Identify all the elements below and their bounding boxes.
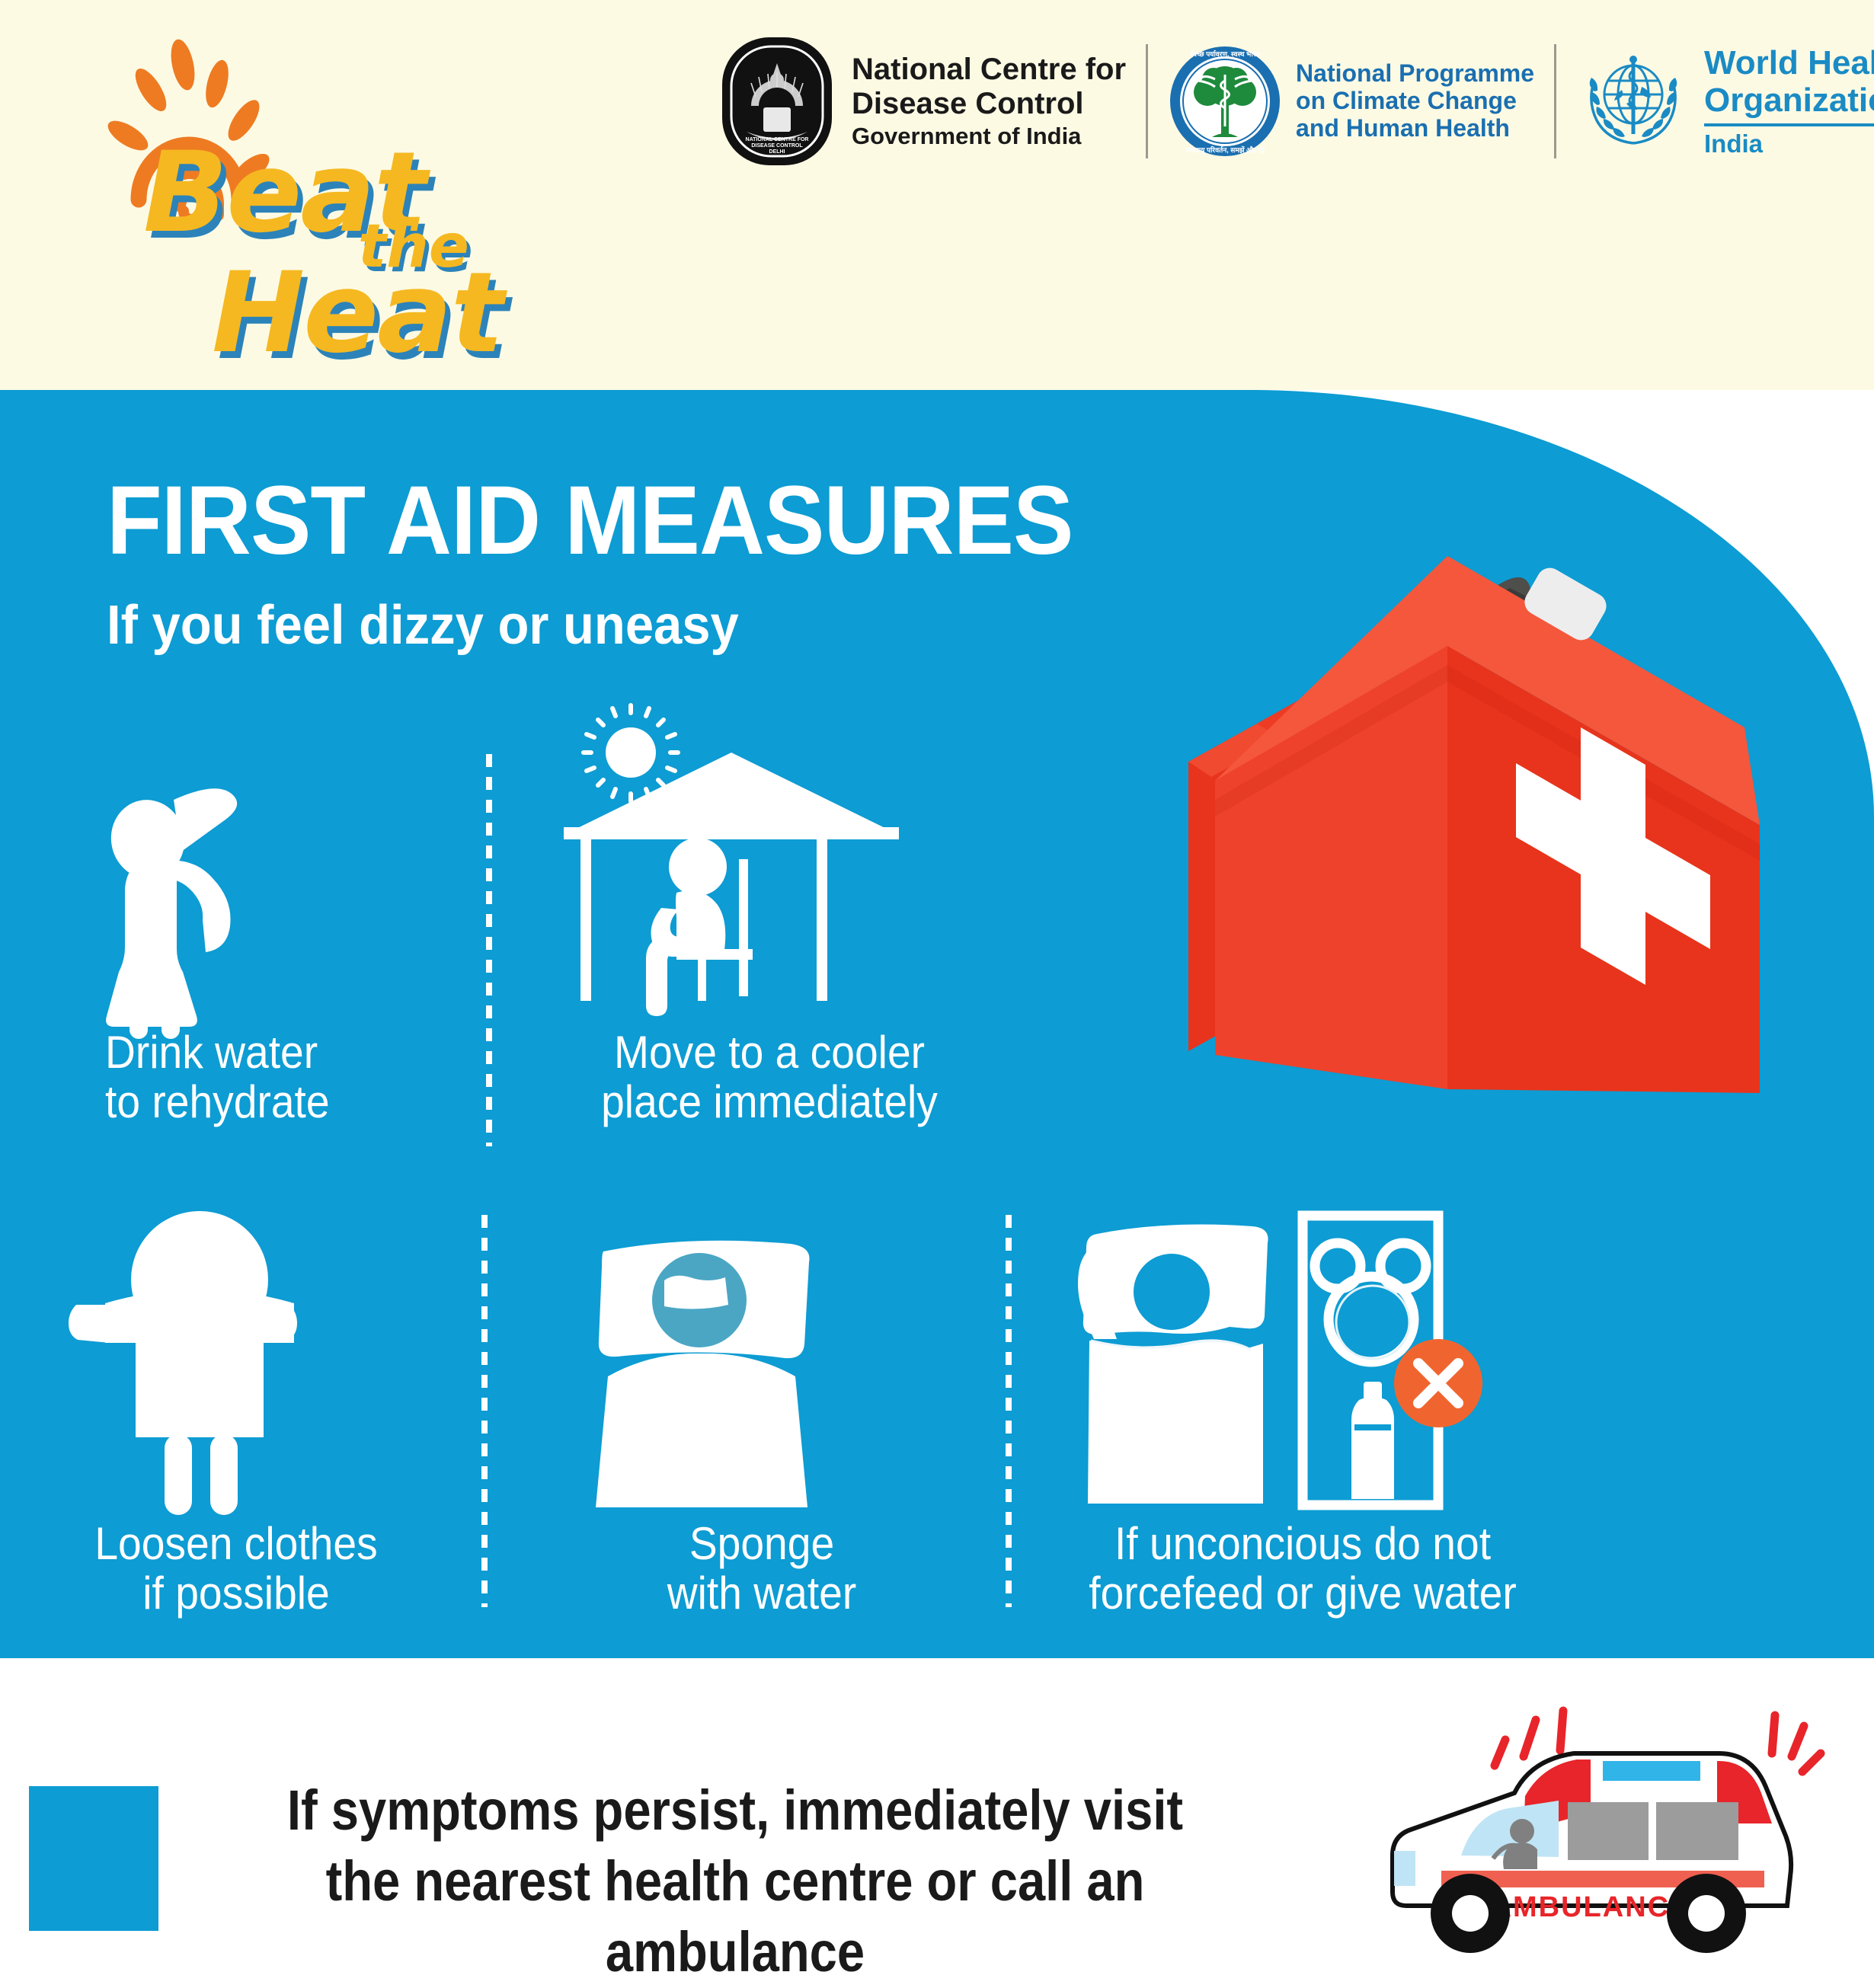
first-aid-kit-icon <box>1143 404 1798 1104</box>
logo-divider-2 <box>1554 44 1556 158</box>
caption-line: Sponge <box>580 1520 944 1569</box>
caption-line: If unconcious do not <box>1079 1520 1527 1569</box>
footer-line-1: If symptoms persist, immediately visit <box>256 1775 1214 1846</box>
person-drinking-water-icon <box>91 777 434 1028</box>
npcchh-line-2: on Climate Change <box>1296 88 1534 115</box>
organization-logos: NATIONAL CENTRE FOR DISEASE CONTROL DELH… <box>716 29 1874 174</box>
ncdc-line-2: Disease Control <box>852 87 1126 121</box>
unconscious-no-food-water-icon <box>1059 1203 1546 1520</box>
who-rule <box>1704 123 1874 126</box>
who-line-1: World Health <box>1704 44 1874 82</box>
ambulance-icon: AMBULANCE <box>1348 1706 1866 1942</box>
footer-line-2: the nearest health centre or call an amb… <box>256 1846 1214 1987</box>
ambulance-label: AMBULANCE <box>1491 1891 1691 1923</box>
infographic-poster: Beat the Heat <box>0 0 1874 1950</box>
npcchh-emblem-icon: स्वच्छ पर्यावरण, स्वस्थ भारत जलवायु परिव… <box>1168 44 1282 158</box>
org-logo-npcchh: स्वच्छ पर्यावरण, स्वस्थ भारत जलवायु परिव… <box>1168 33 1534 170</box>
who-country: India <box>1704 129 1874 158</box>
measure-drink-water: Drink water to rehydrate <box>91 777 434 1127</box>
logo-divider-1 <box>1146 44 1148 158</box>
caption-line: Move to a cooler <box>552 1028 987 1078</box>
caption-drink-water: Drink water to rehydrate <box>105 1028 421 1127</box>
svg-text:जलवायु परिवर्तन, समझें और रहें: जलवायु परिवर्तन, समझें और रहें <box>1185 145 1265 155</box>
ncdc-emblem-icon: NATIONAL CENTRE FOR DISEASE CONTROL DELH… <box>716 33 838 170</box>
page-title: FIRST AID MEASURES <box>107 465 1073 577</box>
org-logo-who: World Health Organization India <box>1576 33 1874 170</box>
footer-accent-square <box>29 1786 158 1931</box>
divider-row1 <box>486 750 492 1146</box>
caption-move-cooler: Move to a cooler place immediately <box>552 1028 987 1127</box>
person-loose-clothes-icon <box>46 1215 427 1520</box>
caption-line: place immediately <box>552 1078 987 1127</box>
campaign-logo: Beat the Heat <box>61 23 488 343</box>
who-emblem-icon <box>1576 44 1690 158</box>
person-in-bed-cloth-icon <box>564 1215 960 1520</box>
caption-no-forcefeed: If unconcious do not forcefeed or give w… <box>1079 1520 1527 1619</box>
svg-text:DELHI: DELHI <box>769 149 785 155</box>
svg-text:NATIONAL CENTRE FOR: NATIONAL CENTRE FOR <box>746 137 809 142</box>
header-band: Beat the Heat <box>0 0 1874 390</box>
measure-sponge-water: Sponge with water <box>564 1215 960 1619</box>
caption-line: Drink water <box>105 1028 421 1078</box>
npcchh-line-3: and Human Health <box>1296 115 1534 142</box>
caption-line: with water <box>580 1569 944 1619</box>
footer-message: If symptoms persist, immediately visit t… <box>256 1775 1214 1988</box>
svg-text:DISEASE CONTROL: DISEASE CONTROL <box>751 143 803 149</box>
caption-sponge-water: Sponge with water <box>580 1520 944 1619</box>
person-under-shelter-icon <box>533 708 1006 1028</box>
npcchh-line-1: National Programme <box>1296 60 1534 88</box>
divider-row2-b <box>1006 1211 1012 1607</box>
caption-line: Loosen clothes <box>61 1520 411 1569</box>
logo-word-heat: Heat <box>212 257 503 369</box>
ncdc-line-1: National Centre for <box>852 53 1126 87</box>
measure-loosen-clothes: Loosen clothes if possible <box>46 1215 427 1619</box>
caption-line: if possible <box>61 1569 411 1619</box>
divider-row2-a <box>481 1211 488 1607</box>
who-line-2: Organization <box>1704 82 1874 119</box>
measure-move-cooler: Move to a cooler place immediately <box>533 708 1006 1127</box>
page-subtitle: If you feel dizzy or uneasy <box>107 594 739 657</box>
svg-text:स्वच्छ पर्यावरण, स्वस्थ भारत: स्वच्छ पर्यावरण, स्वस्थ भारत <box>1190 50 1261 58</box>
ncdc-subline: Government of India <box>852 123 1126 150</box>
caption-line: to rehydrate <box>105 1078 421 1127</box>
measure-no-forcefeed: If unconcious do not forcefeed or give w… <box>1059 1203 1546 1619</box>
caption-loosen-clothes: Loosen clothes if possible <box>61 1520 411 1619</box>
org-logo-ncdc: NATIONAL CENTRE FOR DISEASE CONTROL DELH… <box>716 33 1126 170</box>
caption-line: forcefeed or give water <box>1079 1569 1527 1619</box>
